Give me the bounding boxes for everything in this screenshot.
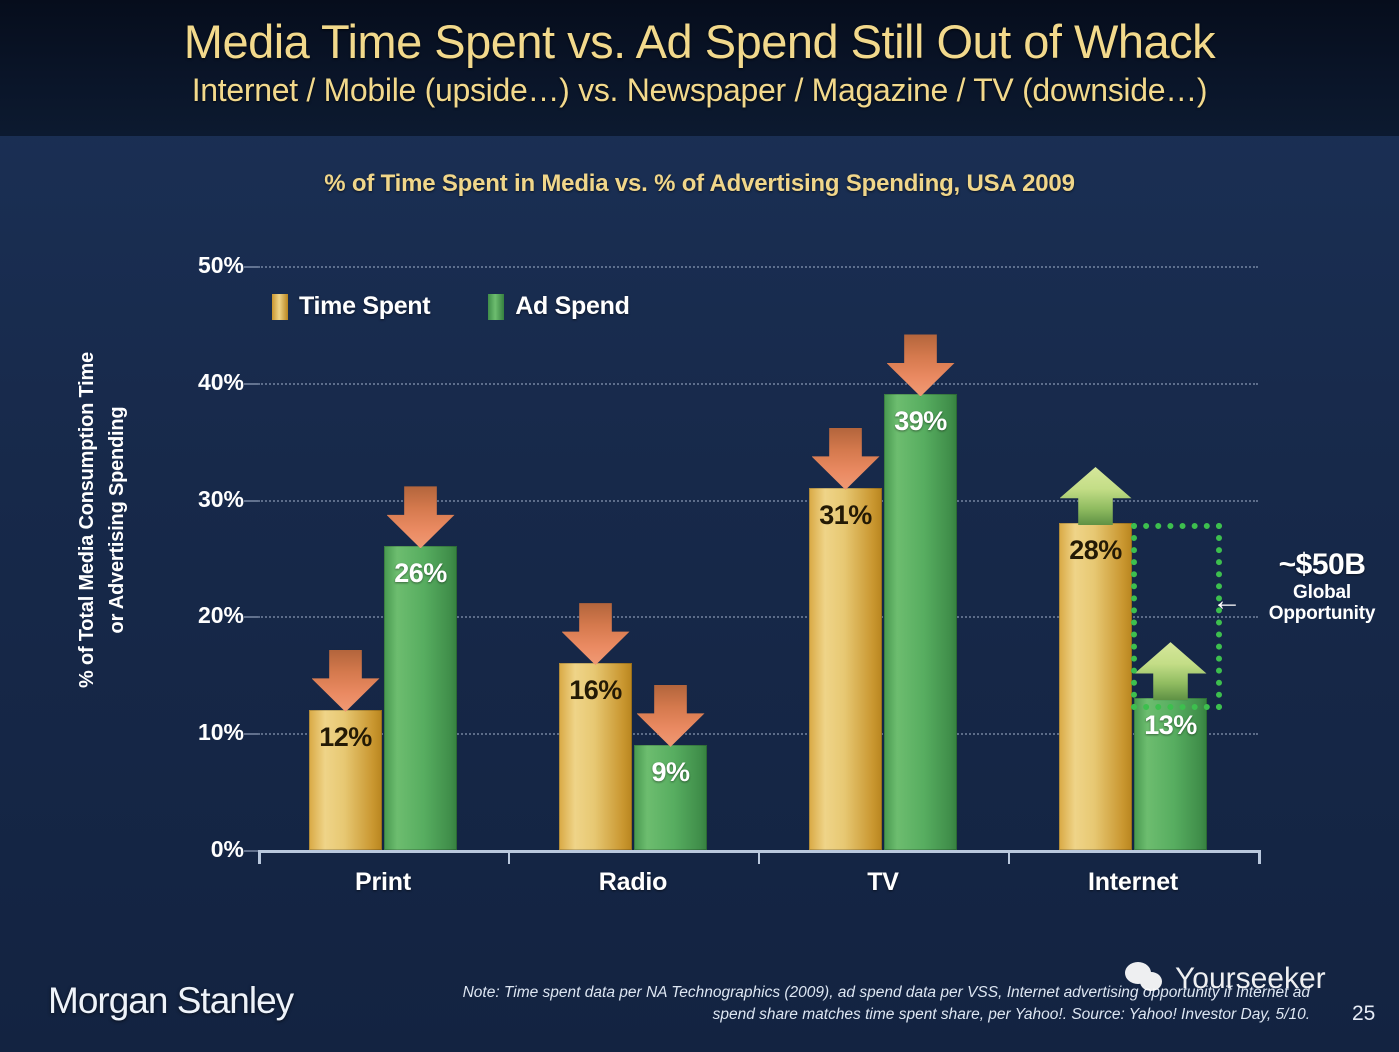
bar-value-label: 31%	[809, 500, 882, 531]
trend-arrow-down-icon	[812, 428, 880, 490]
slide-header-band: Media Time Spent vs. Ad Spend Still Out …	[0, 0, 1399, 136]
y-axis-tick-label: 40%	[198, 369, 244, 396]
y-axis-title-line2: or Advertising Spending	[106, 407, 128, 634]
bar-tv-ad-spend: 39%	[884, 394, 957, 850]
bar-print-time-spent: 12%	[309, 710, 382, 850]
morgan-stanley-logo: Morgan Stanley	[48, 980, 293, 1022]
bar-value-label: 26%	[384, 558, 457, 589]
y-axis-tick-mark	[244, 500, 258, 502]
bar-value-label: 9%	[634, 757, 707, 788]
opportunity-gap-box	[1131, 523, 1222, 710]
callout-line3: Opportunity	[1247, 603, 1397, 624]
slide: Media Time Spent vs. Ad Spend Still Out …	[0, 0, 1399, 1052]
bar-value-label: 13%	[1134, 710, 1207, 741]
trend-arrow-down-icon	[887, 334, 955, 396]
trend-arrow-down-icon	[637, 685, 705, 747]
gridline	[258, 383, 1258, 385]
y-axis-tick-label: 20%	[198, 602, 244, 629]
y-axis-tick-label: 0%	[211, 836, 244, 863]
bar-value-label: 16%	[559, 675, 632, 706]
trend-arrow-down-icon	[387, 486, 455, 548]
legend-item-time-spent: Time Spent	[272, 292, 430, 321]
opportunity-callout: ~$50B Global Opportunity	[1247, 548, 1397, 624]
bar-value-label: 12%	[309, 722, 382, 753]
bar-radio-time-spent: 16%	[559, 663, 632, 850]
slide-title: Media Time Spent vs. Ad Spend Still Out …	[0, 14, 1399, 69]
bar-internet-time-spent: 28%	[1059, 523, 1132, 850]
bar-internet-ad-spend: 13%	[1134, 698, 1207, 850]
y-axis-title-line1: % of Total Media Consumption Time	[76, 352, 98, 688]
slide-subtitle: Internet / Mobile (upside…) vs. Newspape…	[0, 72, 1399, 109]
trend-arrow-up-icon	[1060, 467, 1132, 525]
x-axis-category-tick	[508, 850, 510, 864]
y-axis-tick-label: 50%	[198, 252, 244, 279]
chart-title: % of Time Spent in Media vs. % of Advert…	[0, 170, 1399, 198]
x-axis-category-tick	[758, 850, 760, 864]
legend-label-time-spent: Time Spent	[299, 292, 430, 321]
y-axis-tick-mark	[244, 383, 258, 385]
callout-line2: Global	[1247, 582, 1397, 603]
y-axis-tick-mark	[244, 616, 258, 618]
legend-label-ad-spend: Ad Spend	[515, 292, 629, 321]
y-axis-title: % of Total Media Consumption Time or Adv…	[72, 250, 132, 790]
trend-arrow-down-icon	[562, 603, 630, 665]
page-number: 25	[1352, 1002, 1375, 1026]
legend-item-ad-spend: Ad Spend	[488, 292, 629, 321]
bar-print-ad-spend: 26%	[384, 546, 457, 850]
y-axis-tick-mark	[244, 850, 258, 852]
chart-legend: Time Spent Ad Spend	[272, 292, 630, 321]
x-axis-end-cap	[1258, 850, 1261, 864]
trend-arrow-down-icon	[312, 650, 380, 712]
callout-amount: ~$50B	[1247, 548, 1397, 582]
y-axis-tick-label: 10%	[198, 719, 244, 746]
x-axis-end-cap	[258, 850, 261, 864]
bar-value-label: 39%	[884, 406, 957, 437]
x-axis-category-tick	[1008, 850, 1010, 864]
bar-radio-ad-spend: 9%	[634, 745, 707, 850]
gridline	[258, 266, 1258, 268]
x-axis-label-radio: Radio	[523, 868, 743, 897]
legend-swatch-green-icon	[488, 294, 504, 320]
watermark-text: Yourseeker	[1175, 962, 1326, 996]
wechat-icon	[1125, 962, 1167, 996]
footnote-line2: spend share matches time spent share, pe…	[713, 1006, 1310, 1023]
watermark: Yourseeker	[1125, 962, 1326, 996]
y-axis-tick-label: 30%	[198, 486, 244, 513]
x-axis-label-tv: TV	[773, 868, 993, 897]
plot-area: 0%10%20%30%40%50%12%26%16%9%31%39%28%13%	[258, 266, 1258, 850]
x-axis-label-internet: Internet	[1023, 868, 1243, 897]
callout-arrow-icon: ←	[1205, 588, 1249, 614]
y-axis-tick-mark	[244, 266, 258, 268]
y-axis-tick-mark	[244, 733, 258, 735]
legend-swatch-gold-icon	[272, 294, 288, 320]
bar-tv-time-spent: 31%	[809, 488, 882, 850]
bar-value-label: 28%	[1059, 535, 1132, 566]
x-axis-label-print: Print	[273, 868, 493, 897]
